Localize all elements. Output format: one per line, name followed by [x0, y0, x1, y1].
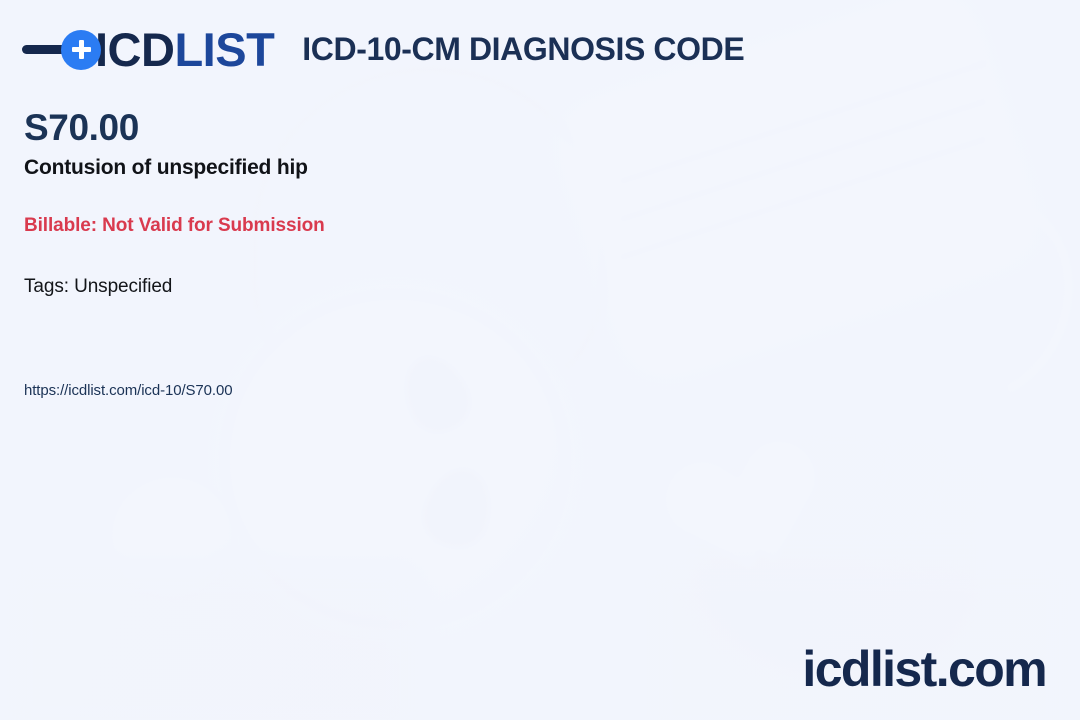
billable-status-badge: Billable: Not Valid for Submission [24, 215, 325, 237]
icd-code-card: ICDLIST ICD-10-CM DIAGNOSIS CODE S70.00 … [0, 0, 1080, 720]
logo-word-list: LIST [174, 23, 274, 76]
logo-wordmark: ICDLIST [95, 26, 274, 73]
card-content: ICDLIST ICD-10-CM DIAGNOSIS CODE S70.00 … [0, 0, 1080, 720]
medical-plus-icon [61, 30, 101, 70]
page-title: ICD-10-CM DIAGNOSIS CODE [302, 31, 744, 68]
icdlist-logo[interactable]: ICDLIST [22, 26, 274, 73]
diagnosis-code-block: S70.00 Contusion of unspecified hip Bill… [24, 108, 325, 298]
source-url-link[interactable]: https://icdlist.com/icd-10/S70.00 [24, 382, 232, 399]
diagnosis-description: Contusion of unspecified hip [24, 156, 325, 180]
tags-label: Tags: Unspecified [24, 276, 325, 298]
page-header: ICDLIST ICD-10-CM DIAGNOSIS CODE [22, 26, 744, 73]
diagnosis-code-value: S70.00 [24, 108, 325, 149]
logo-word-icd: ICD [95, 23, 174, 76]
footer-brand-wordmark[interactable]: icdlist.com [802, 644, 1046, 694]
plus-vertical-bar [79, 40, 84, 59]
